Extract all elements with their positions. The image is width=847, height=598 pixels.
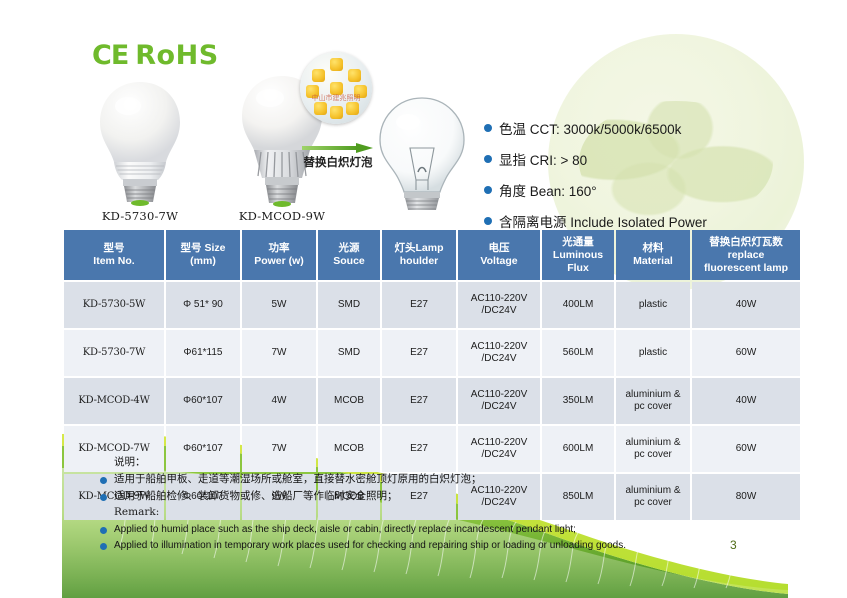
incandescent-bulb-icon (370, 96, 474, 212)
cell-item: KD-5730-5W (64, 282, 164, 328)
led-bulb-plastic-icon (92, 78, 188, 206)
notes-heading-en: Remark: (114, 505, 718, 521)
cell-flux: 560LM (542, 330, 614, 376)
cell-holder: E27 (382, 330, 456, 376)
cell-size: Φ 51* 90 (166, 282, 240, 328)
table-header-cell-5: 电压Voltage (458, 230, 540, 280)
bullet-dot-icon (100, 543, 107, 550)
spec-item-cri: 显指 CRI: > 80 (484, 145, 814, 172)
cell-item: KD-MCOD-4W (64, 378, 164, 424)
spec-item-beam: 角度 Bean: 160° (484, 176, 814, 203)
table-header-cell-1: 型号 Size(mm) (166, 230, 240, 280)
spec-list: 色温 CCT: 3000k/5000k/6500k 显指 CRI: > 80 角… (484, 114, 814, 238)
table-header-cell-3: 光源Souce (318, 230, 380, 280)
table-row: KD-MCOD-4WΦ60*1074WMCOBE27AC110-220V /DC… (64, 378, 800, 424)
product-caption-2: KD-MCOD-9W (206, 209, 358, 223)
mcob-led-module-icon: 中山市建兆照明 (300, 52, 372, 124)
notes-section: 说明： 适用于船舶甲板、走道等潮湿场所或舱室，直接替水密舱顶灯原用的白炽灯泡； … (98, 455, 718, 554)
bullet-dot-icon (484, 124, 492, 132)
spec-item-cct: 色温 CCT: 3000k/5000k/6500k (484, 114, 814, 141)
cell-voltage: AC110-220V /DC24V (458, 330, 540, 376)
table-header-cell-0: 型号Item No. (64, 230, 164, 280)
cell-replace: 40W (692, 378, 800, 424)
note-item-cn-2: 适用于船舶检修、装卸货物或修、造船厂等作临时安全照明； (98, 489, 718, 505)
table-row: KD-5730-7WΦ61*1157WSMDE27AC110-220V /DC2… (64, 330, 800, 376)
cell-source: MCOB (318, 378, 380, 424)
cell-holder: E27 (382, 378, 456, 424)
cell-material: plastic (616, 330, 690, 376)
table-header-row: 型号Item No.型号 Size(mm)功率Power (w)光源Souce灯… (64, 230, 800, 280)
cell-replace: 60W (692, 330, 800, 376)
slide-page: CERoHS (0, 0, 847, 598)
cell-voltage: AC110-220V /DC24V (458, 282, 540, 328)
cell-size: Φ61*115 (166, 330, 240, 376)
cell-flux: 350LM (542, 378, 614, 424)
cell-size: Φ60*107 (166, 378, 240, 424)
cell-material: aluminium & pc cover (616, 378, 690, 424)
cell-power: 4W (242, 378, 316, 424)
ce-rohs-badge: CERoHS (92, 40, 219, 71)
cell-power: 7W (242, 330, 316, 376)
bullet-dot-icon (100, 494, 107, 501)
cell-replace: 40W (692, 282, 800, 328)
rohs-mark-label: RoHS (135, 40, 218, 71)
bullet-dot-icon (484, 186, 492, 194)
page-number: 3 (730, 538, 737, 552)
bullet-dot-icon (484, 155, 492, 163)
cell-material: plastic (616, 282, 690, 328)
note-item-en-2: Applied to illumination in temporary wor… (98, 538, 718, 553)
cell-holder: E27 (382, 282, 456, 328)
ce-mark-icon: CE (92, 40, 128, 71)
table-header-cell-8: 替换白炽灯瓦数replace fluorescent lamp (692, 230, 800, 280)
table-row: KD-5730-5WΦ 51* 905WSMDE27AC110-220V /DC… (64, 282, 800, 328)
cell-source: SMD (318, 330, 380, 376)
cell-voltage: AC110-220V /DC24V (458, 378, 540, 424)
bullet-dot-icon (100, 527, 107, 534)
notes-heading-cn: 说明： (114, 455, 718, 471)
cell-source: SMD (318, 282, 380, 328)
cell-item: KD-5730-7W (64, 330, 164, 376)
bullet-dot-icon (484, 217, 492, 225)
table-header-cell-6: 光通量Luminous Flux (542, 230, 614, 280)
note-item-cn-1: 适用于船舶甲板、走道等潮湿场所或舱室，直接替水密舱顶灯原用的白炽灯泡； (98, 472, 718, 488)
table-header-cell-2: 功率Power (w) (242, 230, 316, 280)
cell-flux: 400LM (542, 282, 614, 328)
right-arrow-icon (302, 142, 374, 154)
table-header-cell-4: 灯头Lamphoulder (382, 230, 456, 280)
cell-power: 5W (242, 282, 316, 328)
bullet-dot-icon (100, 477, 107, 484)
note-item-en-1: Applied to humid place such as the ship … (98, 522, 718, 537)
module-watermark-text: 中山市建兆照明 (300, 93, 372, 103)
product-caption-1: KD-5730-7W (68, 209, 212, 223)
table-header-cell-7: 材料Material (616, 230, 690, 280)
